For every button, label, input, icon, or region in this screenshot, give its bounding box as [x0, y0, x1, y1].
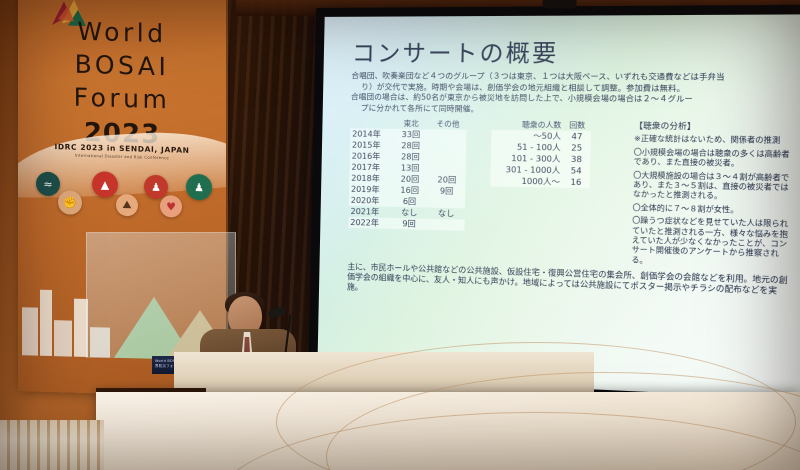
- stage-lower-left: [0, 420, 104, 470]
- tohoku-cell: 33回: [392, 129, 429, 141]
- year-cell: 2019年: [349, 184, 392, 196]
- table-row: 301 - 1000人 54: [491, 164, 591, 177]
- other-cell: なし: [428, 208, 465, 220]
- building-shape: [40, 290, 52, 356]
- table-row: 2014年 33回: [350, 129, 466, 142]
- microphone-icon: [267, 306, 287, 319]
- other-cell: [428, 163, 465, 175]
- year-cell: 2020年: [349, 195, 392, 207]
- other-cell: 20回: [428, 174, 465, 186]
- people-green-icon: ♟: [186, 174, 212, 201]
- other-cell: [429, 130, 466, 142]
- year-cell: 2014年: [350, 129, 393, 141]
- banner-icon-row: ≈ ✊ ▲ ⛰ ♟ ♥ ♟: [26, 169, 222, 236]
- tohoku-cell: 6回: [391, 196, 428, 208]
- building-shape: [22, 307, 38, 355]
- banner-title-line-3: Forum: [18, 79, 226, 118]
- stage-front-panel: [96, 392, 800, 470]
- analysis-heading: 【聴衆の分析】: [634, 120, 793, 133]
- analysis-point: 〇躁うつ症状などを見せていた人は限られていたと推測される一方、様々な悩みを抱えて…: [631, 216, 791, 270]
- slide-paragraph: 合唱団、吹奏楽団など４つのグループ（３つは東京、１つは大阪ベース、いずれも交通費…: [351, 71, 794, 82]
- year-cell: 2016年: [350, 151, 393, 163]
- years-col-header-0: [350, 118, 393, 130]
- building-shape: [54, 320, 72, 357]
- audience-table-wrap: 聴衆の人数 回数 ～50人 47 51 - 100人 25: [489, 119, 617, 267]
- stage-stripes: [0, 420, 104, 470]
- audience-count-cell: 38: [562, 154, 590, 166]
- landslide-icon: ⛰: [116, 194, 138, 217]
- slide-paragraph: プに分かれて各所にて同時開催。: [351, 103, 794, 117]
- analysis-point: 〇全体的に７～８割が女性。: [632, 203, 791, 216]
- years-table: 東北 その他 2014年 33回 2015年 28回: [348, 118, 467, 231]
- slide-title: コンサートの概要: [352, 42, 795, 67]
- table-row: 2022年 9回: [348, 217, 464, 231]
- analysis-point: 〇小規模会場の場合は聴衆の多くは高齢者であり、また直接の被災者。: [633, 147, 792, 169]
- heart-icon: ♥: [160, 195, 182, 218]
- tohoku-cell: 13回: [392, 163, 429, 175]
- table-row: 1000人～ 16: [490, 175, 590, 188]
- year-cell: 2022年: [348, 217, 391, 229]
- years-col-header-2: その他: [429, 118, 466, 130]
- audience-count-cell: 54: [562, 165, 590, 177]
- year-cell: 2018年: [349, 173, 392, 185]
- audience-count-cell: 25: [563, 143, 591, 155]
- tohoku-cell: 16回: [391, 185, 428, 197]
- other-cell: [428, 197, 465, 209]
- screen-mount-icon: [542, 0, 576, 9]
- audience-range-cell: ～50人: [491, 130, 563, 142]
- people-red-icon: ♟: [144, 175, 168, 200]
- conference-photo-scene: World BOSAI Forum 2023 IDRC 2023 in SEND…: [0, 0, 800, 470]
- other-cell: [427, 219, 464, 231]
- audience-col-header-0: 聴衆の人数: [491, 119, 563, 131]
- tohoku-cell: 28回: [392, 151, 429, 163]
- tohoku-cell: 28回: [392, 140, 429, 152]
- volcano-icon: ▲: [92, 171, 118, 198]
- year-cell: 2015年: [350, 140, 393, 152]
- audience-count-cell: 16: [562, 177, 590, 189]
- analysis-point: 〇大規模施設の場合は３～４割が高齢者であり、また３～５割は、直接の被災者ではなか…: [633, 170, 792, 203]
- tohoku-cell: 9回: [391, 218, 428, 230]
- handshake-icon: ✊: [58, 190, 82, 215]
- audience-range-cell: 1000人～: [490, 175, 562, 188]
- banner-title: World BOSAI Forum 2023: [18, 13, 226, 152]
- analysis-intro: ※正確な統計はないため、関係者の推測: [634, 134, 793, 146]
- years-table-wrap: 東北 その他 2014年 33回 2015年 28回: [348, 118, 482, 264]
- audience-col-header-1: 回数: [563, 120, 591, 132]
- tohoku-cell: なし: [391, 207, 428, 219]
- wave-icon: ≈: [36, 172, 60, 197]
- other-cell: [429, 152, 466, 164]
- tohoku-cell: 20回: [392, 174, 429, 186]
- years-col-header-1: 東北: [393, 118, 430, 130]
- table-row: 2015年 28回: [350, 140, 466, 153]
- year-cell: 2021年: [348, 206, 391, 218]
- audience-table: 聴衆の人数 回数 ～50人 47 51 - 100人 25: [490, 119, 591, 189]
- other-cell: [429, 141, 466, 153]
- year-cell: 2017年: [349, 162, 392, 174]
- analysis-block: 【聴衆の分析】 ※正確な統計はないため、関係者の推測 〇小規模会場の場合は聴衆の…: [625, 120, 794, 272]
- other-cell: 9回: [428, 186, 465, 198]
- audience-count-cell: 47: [563, 131, 591, 143]
